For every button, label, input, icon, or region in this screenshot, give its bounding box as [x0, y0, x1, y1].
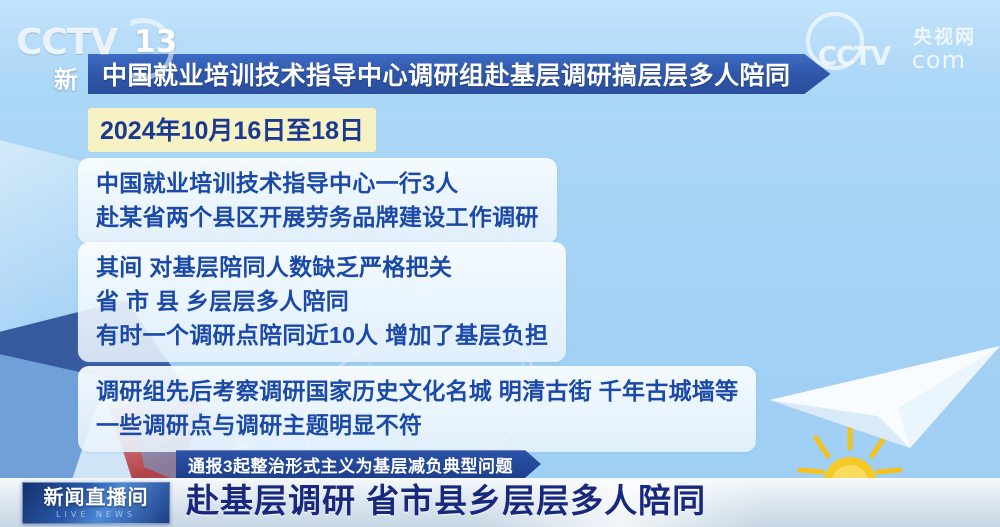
paper-plane-icon: [760, 330, 1000, 470]
program-name-zh: 新闻直播间: [44, 487, 149, 509]
cctv-com-watermark: CCTV 央视网 com: [772, 8, 982, 80]
cctv-news-label: 新: [54, 60, 78, 95]
content-card: 中国就业培训技术指导中心一行3人 赴某省两个县区开展劳务品牌建设工作调研: [78, 158, 557, 244]
cctv13-logo: CCTV 13 新: [16, 20, 186, 86]
cctv-channel-number: 13: [134, 24, 177, 60]
cctv-wordmark: CCTV: [16, 22, 117, 63]
content-line: 调研组先后考察调研国家历史文化名城 明清古街 千年古城墙等: [96, 374, 738, 408]
program-logo: 新闻直播间 LIVE NEWS: [22, 482, 170, 524]
main-title: 赴基层调研 省市县乡层层多人陪同: [186, 474, 706, 522]
content-line: 省 市 县 乡层层多人陪同: [96, 284, 548, 318]
content-line: 有时一个调研点陪同近10人 增加了基层负担: [96, 318, 548, 352]
watermark-cctv-text: CCTV: [818, 42, 890, 72]
broadcast-screenshot: CCTV 13 新 CCTV 央视网 com 中国就业培训技术指导中心调研组赴基…: [0, 0, 1000, 527]
watermark-cn-text: 央视网: [913, 22, 976, 49]
content-line: 赴某省两个县区开展劳务品牌建设工作调研: [96, 200, 539, 234]
content-line: 一些调研点与调研主题明显不符: [96, 408, 738, 442]
headline-banner: 中国就业培训技术指导中心调研组赴基层调研搞层层多人陪同: [88, 54, 831, 94]
content-card: 调研组先后考察调研国家历史文化名城 明清古街 千年古城墙等 一些调研点与调研主题…: [78, 366, 756, 452]
headline-text: 中国就业培训技术指导中心调研组赴基层调研搞层层多人陪同: [102, 56, 791, 92]
date-highlight-chip: 2024年10月16日至18日: [88, 108, 376, 152]
watermark-com-text: com: [912, 46, 966, 74]
content-line: 中国就业培训技术指导中心一行3人: [96, 166, 539, 200]
content-card: 其间 对基层陪同人数缺乏严格把关 省 市 县 乡层层多人陪同 有时一个调研点陪同…: [78, 242, 566, 362]
program-name-en: LIVE NEWS: [56, 509, 136, 520]
date-text: 2024年10月16日至18日: [100, 117, 364, 145]
content-line: 其间 对基层陪同人数缺乏严格把关: [96, 250, 548, 284]
